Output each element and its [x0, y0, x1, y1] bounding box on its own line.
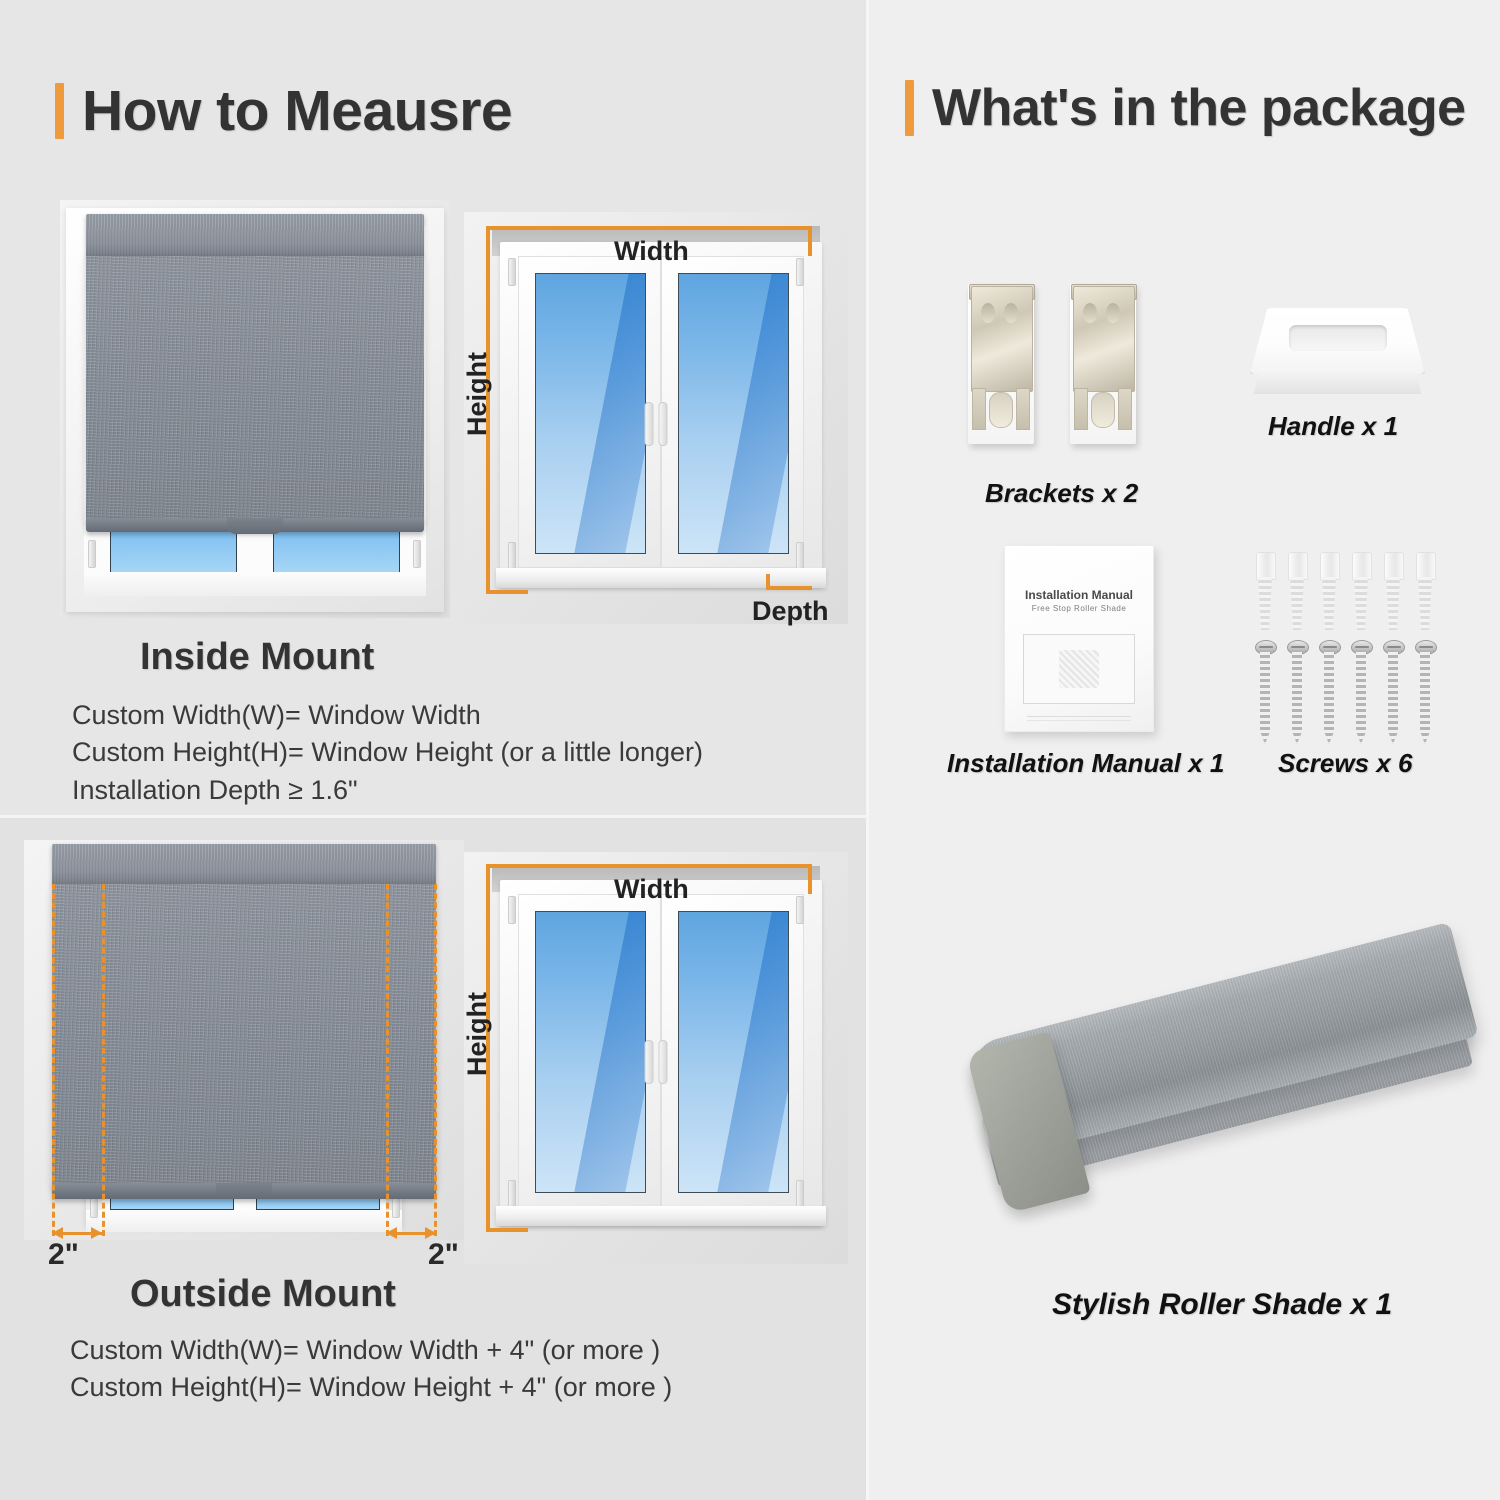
outside-line-2: Custom Height(H)= Window Height + 4" (or… [70, 1369, 672, 1406]
hinge-icon [796, 258, 804, 286]
screw-icon [1415, 640, 1435, 744]
hinge-icon [508, 896, 516, 924]
overhang-dash-left-outer [52, 884, 55, 1236]
width-measure-cap-right [808, 226, 812, 256]
glass-pane-left [535, 273, 647, 554]
height-measure-cap-top [486, 864, 528, 868]
screw-icon [1351, 640, 1371, 744]
inside-mount-measure-diagram: Width Height Depth [464, 212, 848, 624]
width-measure-line [486, 864, 812, 868]
wall-anchor-icon [1351, 552, 1371, 630]
outside-mount-illustration: 2" 2" [24, 840, 464, 1240]
infographic-page: How to Meausre What's in the package [0, 0, 1500, 1500]
shade-headrail [52, 844, 436, 886]
brackets-label: Brackets x 2 [985, 478, 1138, 509]
overhang-label-right: 2" [428, 1238, 459, 1272]
overhang-dash-right-inner [386, 884, 389, 1236]
hinge-icon [796, 896, 804, 924]
shade-headrail [86, 214, 424, 258]
screws-label: Screws x 6 [1278, 748, 1412, 779]
outside-mount-description: Custom Width(W)= Window Width + 4" (or m… [70, 1332, 672, 1407]
glass-pane-left [535, 911, 647, 1194]
inside-mount-illustration [60, 200, 450, 618]
manual-cover-subtitle: Free Stop Roller Shade [1005, 604, 1153, 613]
hinge-icon [508, 258, 516, 286]
sash-left [518, 894, 661, 1208]
inside-line-1: Custom Width(W)= Window Width [72, 697, 703, 734]
glass-pane-left [110, 530, 237, 574]
screw-icon [1255, 640, 1275, 744]
bracket-icon [1070, 284, 1136, 444]
shade-fabric [86, 256, 424, 521]
manual-label: Installation Manual x 1 [947, 748, 1224, 779]
screw-icon [1383, 640, 1403, 744]
shade-bottom-rail [86, 518, 424, 532]
window-sill [496, 1206, 826, 1226]
bracket-icon [968, 284, 1034, 444]
outside-mount-measure-diagram: Width Height [464, 852, 848, 1264]
page-title-right: What's in the package [932, 78, 1466, 138]
hinge-icon [90, 1198, 98, 1218]
wall-anchor-icon [1415, 552, 1435, 630]
roller-shade-label: Stylish Roller Shade x 1 [1052, 1288, 1392, 1322]
height-measure-cap-bottom [486, 1228, 528, 1232]
width-label: Width [614, 236, 689, 267]
window-handles-icon[interactable] [645, 1040, 668, 1084]
glass-pane-right [678, 273, 790, 554]
hinge-icon [796, 542, 804, 570]
shade-fabric [52, 884, 436, 1186]
manual-cover-title: Installation Manual [1005, 588, 1153, 602]
heading-package: What's in the package [905, 78, 1466, 138]
handle-label: Handle x 1 [1268, 411, 1398, 442]
shade-pull-tab[interactable] [216, 1183, 272, 1199]
wall-anchor-icon [1319, 552, 1339, 630]
page-title-left: How to Meausre [82, 78, 512, 144]
hinge-icon [88, 540, 96, 568]
hinge-icon [392, 1198, 400, 1218]
height-label: Height [462, 352, 493, 436]
heading-how-to-measure: How to Meausre [55, 78, 512, 144]
hinge-icon [508, 542, 516, 570]
handle-icon [1250, 308, 1425, 396]
depth-measure-line [766, 586, 812, 590]
window-sill [84, 572, 426, 596]
hinge-icon [413, 540, 421, 568]
depth-measure-cap [766, 574, 770, 590]
wall-anchor-icon [1287, 552, 1307, 630]
manual-icon: Installation Manual Free Stop Roller Sha… [1004, 545, 1154, 732]
window-sill [86, 1210, 402, 1232]
shade-bottom-rail [52, 1183, 436, 1199]
width-measure-line [486, 226, 812, 230]
sash-right [661, 894, 804, 1208]
overhang-dash-right-outer [434, 884, 437, 1236]
shade-pull-tab[interactable] [227, 518, 283, 534]
wall-anchor-icon [1383, 552, 1403, 630]
height-measure-cap-top [486, 226, 528, 230]
accent-bar-icon [55, 83, 64, 139]
overhang-dash-left-inner [102, 884, 105, 1236]
screw-icon [1287, 640, 1307, 744]
vertical-divider [866, 0, 869, 1500]
inside-line-2: Custom Height(H)= Window Height (or a li… [72, 734, 703, 771]
sash-left [518, 256, 661, 568]
wall-anchor-icon [1255, 552, 1275, 630]
width-measure-cap-right [808, 864, 812, 894]
height-measure-cap-bottom [486, 590, 528, 594]
window-sill [496, 568, 826, 588]
outside-mount-title: Outside Mount [130, 1273, 396, 1316]
horizontal-divider [0, 815, 866, 818]
hinge-icon [796, 1180, 804, 1208]
glass-pane-right [273, 530, 400, 574]
sash-right [661, 256, 804, 568]
arrow-left-icon [386, 1227, 397, 1239]
outside-line-1: Custom Width(W)= Window Width + 4" (or m… [70, 1332, 672, 1369]
accent-bar-icon [905, 80, 914, 136]
overhang-label-left: 2" [48, 1238, 79, 1272]
roller-shade-icon [960, 905, 1480, 1255]
inside-line-3: Installation Depth ≥ 1.6" [72, 772, 703, 809]
height-label: Height [462, 992, 493, 1076]
glass-pane-right [678, 911, 790, 1194]
screw-icon [1319, 640, 1339, 744]
hinge-icon [508, 1180, 516, 1208]
inside-mount-description: Custom Width(W)= Window Width Custom Hei… [72, 697, 703, 809]
window-handles-icon[interactable] [645, 402, 668, 446]
arrow-right-icon [91, 1227, 102, 1239]
inside-mount-title: Inside Mount [140, 636, 374, 679]
depth-label: Depth [752, 596, 829, 627]
width-label: Width [614, 874, 689, 905]
